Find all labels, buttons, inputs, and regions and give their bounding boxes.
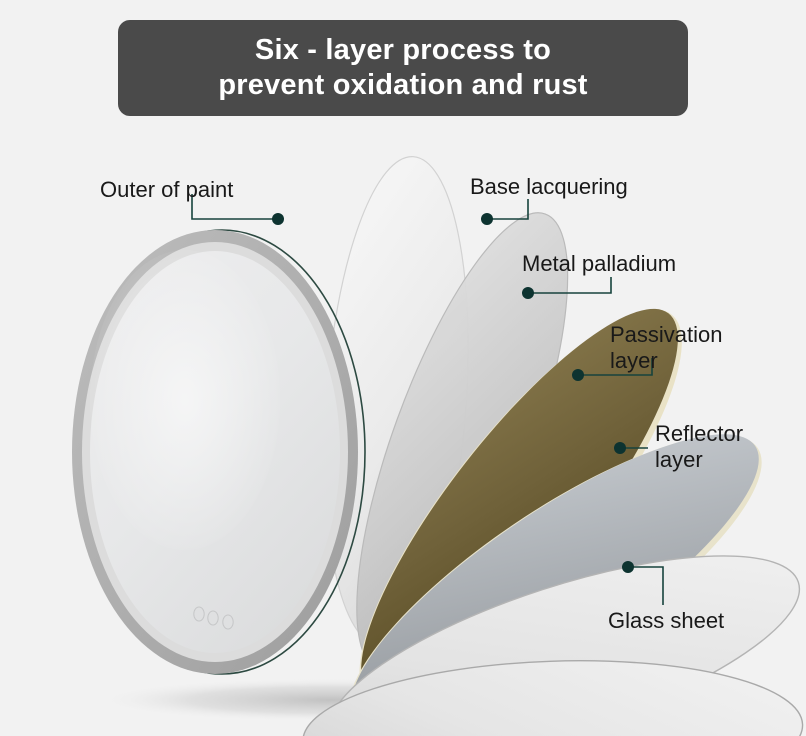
callout-label-metal-palladium: Metal palladium: [522, 251, 676, 277]
touch-button-1[interactable]: [194, 607, 204, 621]
title-banner: Six - layer process to prevent oxidation…: [118, 20, 688, 116]
dot-metal-palladium: [522, 287, 534, 299]
dot-reflector-layer: [614, 442, 626, 454]
dot-glass-sheet: [622, 561, 634, 573]
led-mirror[interactable]: [72, 230, 365, 674]
touch-button-3[interactable]: [223, 615, 233, 629]
callout-label-glass-sheet: Glass sheet: [608, 608, 724, 634]
dot-base-lacquering: [481, 213, 493, 225]
dot-outer-of-paint: [272, 213, 284, 225]
leader-base-lacquering: [487, 199, 528, 219]
infographic-canvas: Six - layer process to prevent oxidation…: [0, 0, 806, 736]
mirror-highlight: [90, 250, 280, 550]
callout-label-base-lacquering: Base lacquering: [470, 174, 628, 200]
callout-label-outer-of-paint: Outer of paint: [100, 177, 233, 203]
dot-passivation-layer: [572, 369, 584, 381]
touch-button-2[interactable]: [208, 611, 218, 625]
callout-label-reflector-layer: Reflector layer: [655, 421, 743, 473]
page-title: Six - layer process to prevent oxidation…: [218, 33, 587, 104]
callout-label-passivation-layer: Passivation layer: [610, 322, 723, 374]
